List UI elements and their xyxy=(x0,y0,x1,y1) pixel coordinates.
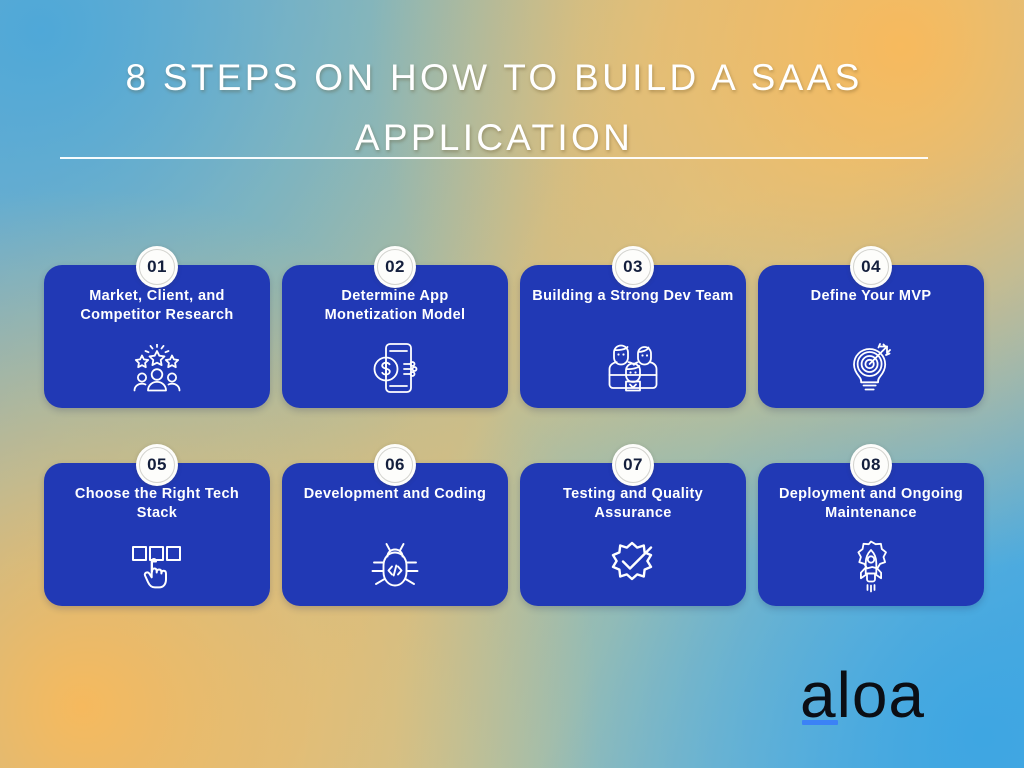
step-number-05: 05 xyxy=(147,455,167,475)
step-card-04[interactable]: 04 Define Your MVP xyxy=(758,246,984,444)
title-divider xyxy=(60,157,928,159)
step-number-06: 06 xyxy=(385,455,405,475)
step-number-badge-07: 07 xyxy=(612,444,654,486)
rocket-gear-icon xyxy=(843,540,899,592)
step-number-badge-05: 05 xyxy=(136,444,178,486)
dev-team-icon xyxy=(605,342,661,394)
page-title: 8 STEPS ON HOW TO BUILD A SAAS APPLICATI… xyxy=(60,48,928,168)
step-title-07: Testing and Quality Assurance xyxy=(532,485,734,523)
step-card-02[interactable]: 02 Determine App Monetization Model xyxy=(282,246,508,444)
step-number-01: 01 xyxy=(147,257,167,277)
step-card-05[interactable]: 05 Choose the Right Tech Stack xyxy=(44,444,270,642)
step-title-01: Market, Client, and Competitor Research xyxy=(56,287,258,325)
step-card-08[interactable]: 08 Deployment and Ongoing Maintenance xyxy=(758,444,984,642)
step-title-08: Deployment and Ongoing Maintenance xyxy=(770,485,972,523)
step-number-badge-04: 04 xyxy=(850,246,892,288)
step-card-03[interactable]: 03 Building a Strong Dev Team xyxy=(520,246,746,444)
aloa-logo: aloa xyxy=(800,660,960,736)
step-card-07[interactable]: 07 Testing and Quality Assurance xyxy=(520,444,746,642)
infographic-poster: 8 STEPS ON HOW TO BUILD A SAAS APPLICATI… xyxy=(0,0,1024,768)
step-number-04: 04 xyxy=(861,257,881,277)
page-title-line-1: 8 STEPS ON HOW TO BUILD A SAAS xyxy=(60,48,928,108)
step-number-badge-08: 08 xyxy=(850,444,892,486)
step-card-01[interactable]: 01 Market, Client, and Competitor Resear… xyxy=(44,246,270,444)
step-number-03: 03 xyxy=(623,257,643,277)
starburst-check-icon xyxy=(605,540,661,592)
step-number-badge-03: 03 xyxy=(612,246,654,288)
step-number-badge-01: 01 xyxy=(136,246,178,288)
bug-code-icon xyxy=(367,540,423,592)
step-number-07: 07 xyxy=(623,455,643,475)
step-title-06: Development and Coding xyxy=(304,485,487,504)
step-number-badge-06: 06 xyxy=(374,444,416,486)
squares-hand-pointer-icon xyxy=(129,540,185,592)
step-number-badge-02: 02 xyxy=(374,246,416,288)
step-card-06[interactable]: 06 Development and Coding xyxy=(282,444,508,642)
mobile-dollar-icon xyxy=(367,342,423,394)
step-title-03: Building a Strong Dev Team xyxy=(532,287,733,306)
step-number-08: 08 xyxy=(861,455,881,475)
stars-people-icon xyxy=(129,342,185,394)
step-number-02: 02 xyxy=(385,257,405,277)
lightbulb-target-arrow-icon xyxy=(843,342,899,394)
step-title-04: Define Your MVP xyxy=(811,287,932,306)
step-title-05: Choose the Right Tech Stack xyxy=(56,485,258,523)
step-title-02: Determine App Monetization Model xyxy=(294,287,496,325)
steps-grid: 01 Market, Client, and Competitor Resear… xyxy=(44,246,984,642)
aloa-logo-underline xyxy=(802,720,838,725)
